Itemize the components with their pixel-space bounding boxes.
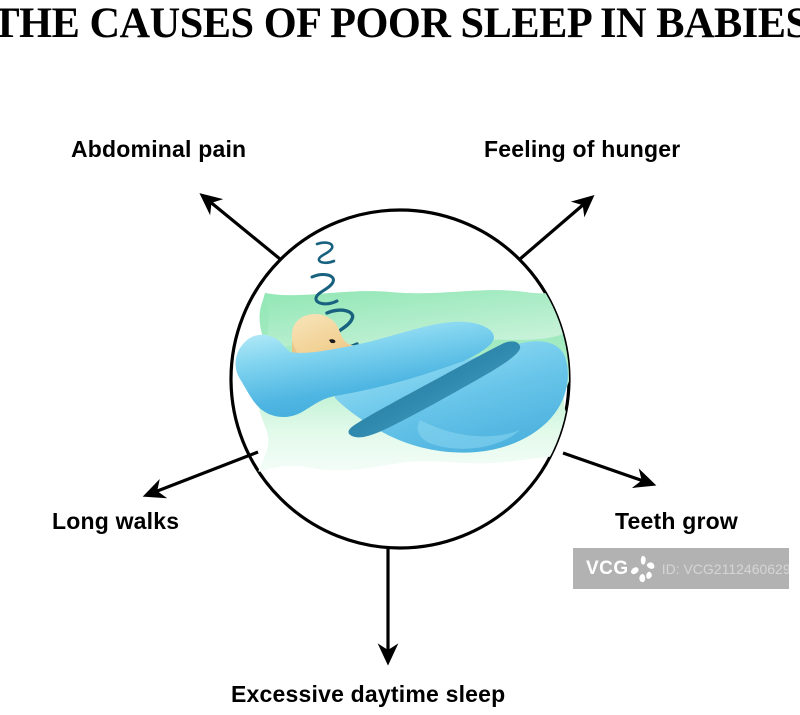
watermark-bar: VCG ID: VCG211246062973 — [573, 548, 789, 589]
label-feeling-of-hunger: Feeling of hunger — [484, 136, 680, 162]
label-long-walks: Long walks — [52, 508, 179, 534]
label-teeth-grow: Teeth grow — [615, 508, 738, 534]
label-excessive-daytime-sleep: Excessive daytime sleep — [231, 681, 505, 707]
watermark-id: ID: VCG211246062973 — [662, 561, 789, 577]
arrow-long-walks — [147, 452, 258, 495]
arrow-feeling-of-hunger — [520, 198, 591, 259]
infographic-root: THE CAUSES OF POOR SLEEP IN BABIES — [0, 0, 800, 715]
illustration-scene — [0, 0, 800, 715]
watermark-brand: VCG — [586, 558, 629, 580]
vcg-flower-icon — [630, 555, 656, 583]
arrow-teeth-grow — [563, 453, 652, 484]
label-abdominal-pain: Abdominal pain — [71, 136, 246, 162]
arrow-abdominal-pain — [203, 196, 280, 259]
